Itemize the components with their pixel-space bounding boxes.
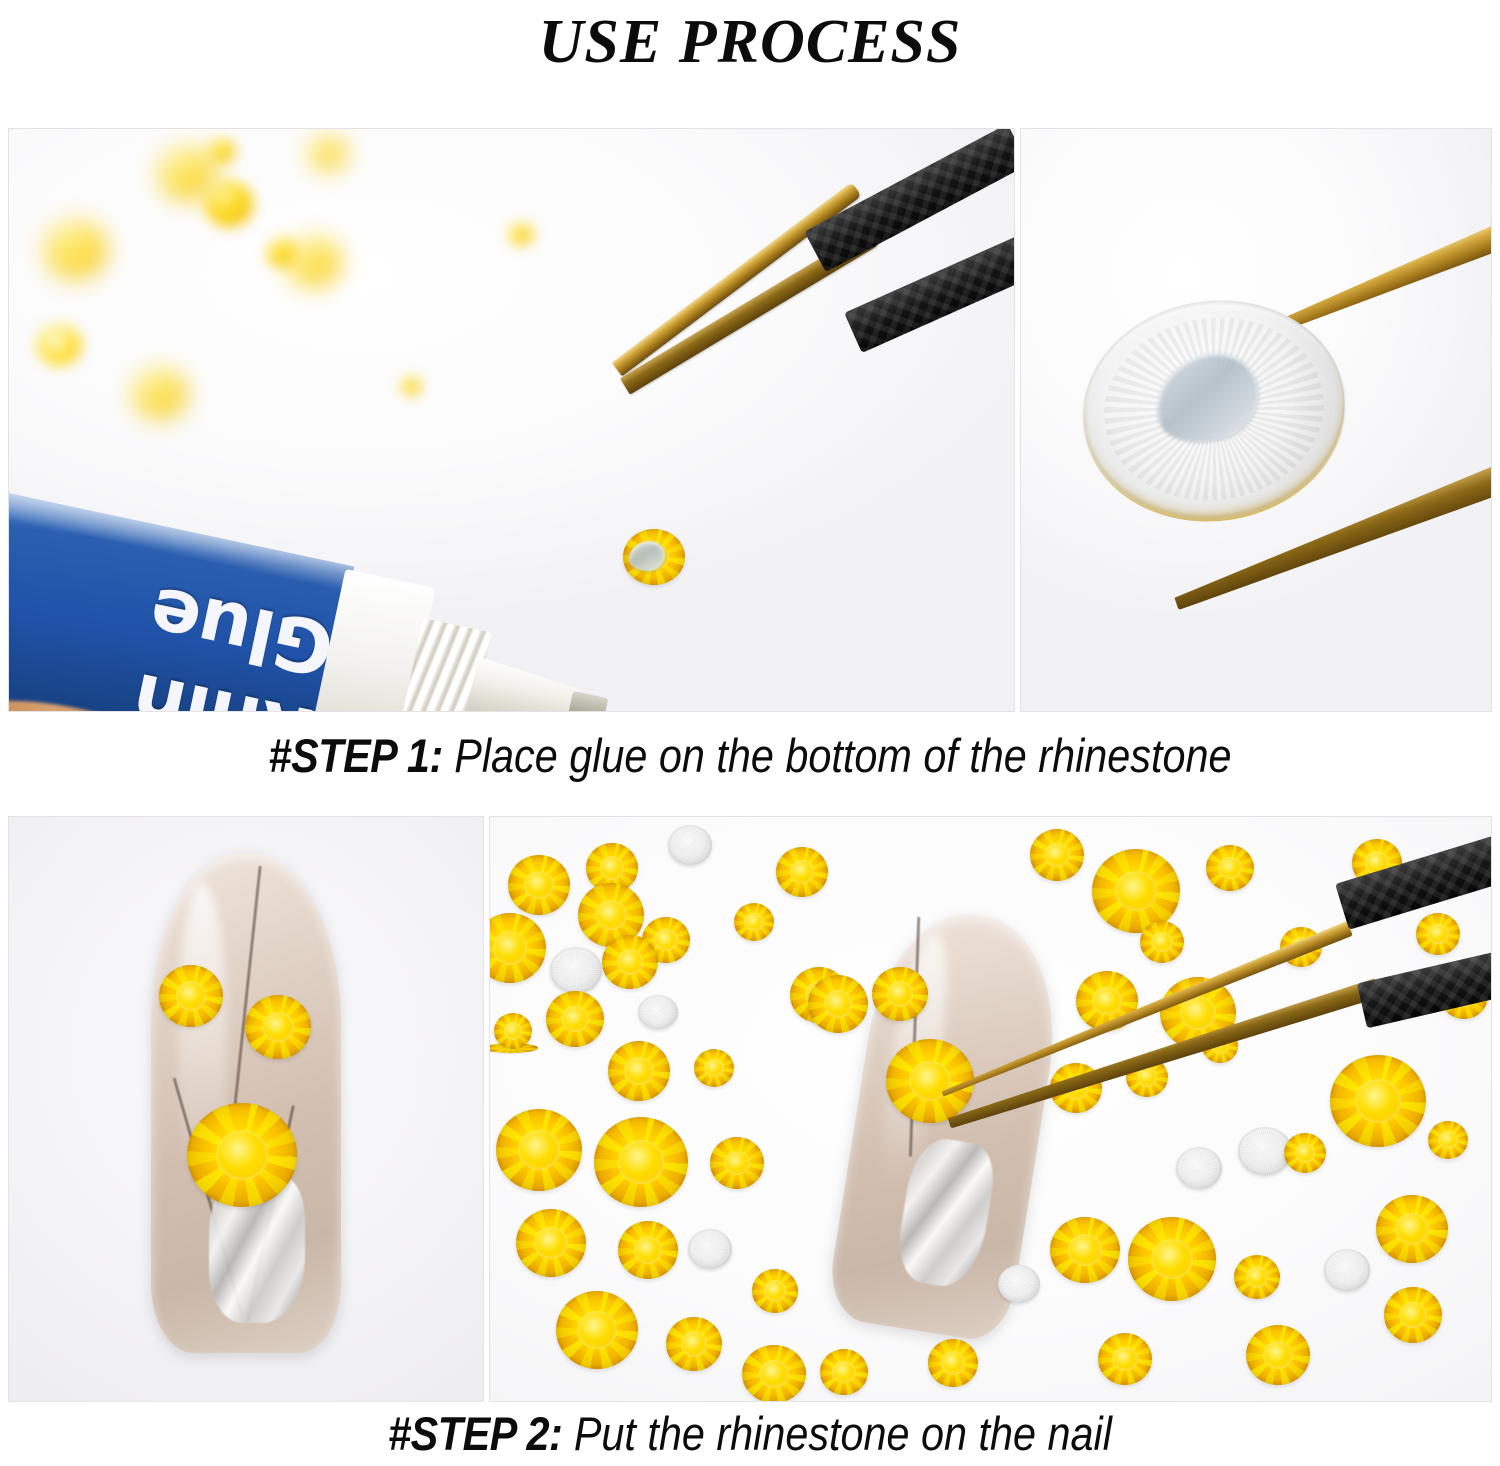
rhinestone-table — [524, 871, 554, 900]
scatter-rhinestone-back — [1176, 1147, 1222, 1189]
rhinestone-table — [216, 1130, 269, 1180]
rhinestone-table — [887, 981, 914, 1007]
bokeh-stone — [205, 181, 253, 227]
rhinestone-table — [618, 1140, 663, 1183]
rhinestone-table — [1092, 987, 1122, 1016]
scatter-rhinestone — [742, 1345, 806, 1402]
scatter-rhinestone — [666, 1317, 722, 1371]
rhinestone-table — [634, 1236, 663, 1264]
scatter-rhinestone — [602, 935, 658, 989]
scatter-rhinestone-back — [1324, 1249, 1370, 1291]
nail-rhinestone — [808, 975, 868, 1033]
rhinestone-table — [493, 931, 528, 965]
scatter-rhinestone — [1050, 1217, 1120, 1283]
scatter-rhinestone — [618, 1221, 678, 1279]
rhinestone-table — [832, 1361, 855, 1383]
panel-placing-stone — [489, 816, 1492, 1402]
scatter-rhinestone — [734, 903, 774, 941]
step1-label: #STEP 1: — [269, 729, 443, 782]
nail-rhinestone-large — [187, 1103, 297, 1207]
rhinestone-table — [724, 1151, 750, 1176]
rhinestone-table — [1151, 932, 1172, 952]
scatter-rhinestone — [1284, 1133, 1326, 1173]
step1-text: Place glue on the bottom of the rhinesto… — [443, 729, 1232, 782]
rhinestone-table — [176, 981, 207, 1011]
step2-caption: #STEP 2: Put the rhinestone on the nail — [90, 1406, 1410, 1462]
step2-image-row — [8, 816, 1492, 1402]
scatter-rhinestone — [1030, 829, 1084, 881]
rhinestone-table — [518, 1130, 559, 1169]
nail-rhinestone-small — [159, 965, 223, 1027]
scatter-rhinestone-back — [688, 1229, 732, 1269]
bokeh-stone — [309, 135, 347, 171]
rhinestone-table — [1112, 1347, 1138, 1372]
scatter-rhinestone-back — [668, 825, 712, 865]
rhinestone-table — [764, 1280, 786, 1301]
scatter-rhinestone — [496, 1109, 582, 1191]
scatter-rhinestone-back — [638, 995, 678, 1029]
scatter-rhinestone — [1206, 845, 1254, 891]
panel-glue-application: RhinGlue — [8, 128, 1015, 712]
bokeh-stone — [133, 369, 187, 419]
page-title: USE PROCESS — [0, 2, 1500, 82]
rhinestone-table — [1427, 924, 1448, 944]
rhinestone-table — [941, 1351, 965, 1374]
panel-stone-closeup — [1020, 128, 1492, 712]
scatter-rhinestone — [1376, 1195, 1448, 1263]
panel-decorated-nail — [8, 816, 484, 1402]
scatter-rhinestone — [546, 991, 604, 1047]
rhinestone-table — [1355, 1079, 1401, 1123]
scatter-rhinestone — [1416, 913, 1460, 955]
bokeh-stone — [45, 221, 107, 279]
step2-label: #STEP 2: — [388, 1407, 562, 1460]
rhinestone-table — [1295, 1143, 1315, 1162]
rhinestone-table — [1246, 1266, 1268, 1287]
rhinestone-table — [824, 990, 853, 1018]
bokeh-stone — [37, 325, 81, 365]
step1-caption: #STEP 1: Place glue on the bottom of the… — [90, 728, 1410, 784]
step2-text: Put the rhinestone on the nail — [562, 1407, 1112, 1460]
scatter-rhinestone — [494, 1013, 532, 1049]
scatter-rhinestone-back — [550, 947, 602, 993]
rhinestone-table — [1044, 843, 1070, 868]
rhinestone-table — [595, 900, 627, 931]
scatter-rhinestone — [1140, 921, 1184, 963]
scatter-rhinestone — [752, 1269, 798, 1313]
scatter-rhinestone-back — [998, 1265, 1040, 1303]
rhinestone-table — [617, 949, 644, 975]
bokeh-stone — [401, 377, 421, 395]
bokeh-stone — [509, 223, 533, 245]
scatter-rhinestone — [508, 855, 570, 915]
rhinestone-table — [654, 929, 677, 951]
rhinestone-table — [624, 1057, 654, 1086]
glue-drop-on-stone — [629, 541, 665, 571]
nail-rhinestone — [872, 967, 928, 1021]
rhinestone-table — [262, 1012, 294, 1043]
scatter-rhinestone — [1128, 1217, 1216, 1301]
rhinestone-table — [1115, 871, 1157, 911]
scatter-rhinestone — [820, 1349, 868, 1395]
bokeh-stone — [287, 237, 341, 287]
scatter-rhinestone — [1384, 1287, 1442, 1343]
scatter-rhinestone — [516, 1209, 586, 1277]
rhinestone-table — [577, 1311, 616, 1348]
scatter-rhinestone — [1092, 849, 1180, 933]
scatter-rhinestone — [776, 847, 828, 897]
rhinestone-table — [504, 1022, 522, 1039]
rhinestone-table — [1151, 1239, 1193, 1279]
rhinestone-table — [1068, 1234, 1102, 1266]
scatter-rhinestone — [594, 1117, 688, 1207]
scatter-rhinestone — [1234, 1255, 1280, 1299]
scatter-rhinestone — [694, 1049, 734, 1087]
scatter-rhinestone — [1246, 1325, 1310, 1385]
scatter-rhinestone — [608, 1041, 670, 1101]
rhinestone-table — [561, 1006, 589, 1033]
rhinestone-table — [759, 1360, 790, 1388]
rhinestone-table — [681, 1331, 708, 1357]
rhinestone-table — [1399, 1302, 1427, 1329]
rhinestone-table — [534, 1227, 568, 1260]
bokeh-stone — [209, 139, 235, 163]
scatter-rhinestone — [710, 1137, 764, 1189]
step1-image-row: RhinGlue — [8, 128, 1492, 712]
rhinestone-table — [744, 913, 763, 931]
scatter-rhinestone — [1098, 1333, 1152, 1385]
scatter-rhinestone — [556, 1291, 638, 1369]
scatter-rhinestone — [1330, 1055, 1426, 1147]
nail-rhinestone-medium — [245, 995, 311, 1059]
scatter-rhinestone — [1428, 1121, 1468, 1159]
rhinestone-table — [1438, 1131, 1457, 1149]
rhinestone-table — [704, 1059, 723, 1077]
scatter-rhinestone — [928, 1339, 978, 1387]
rhinestone-table — [1218, 857, 1241, 879]
rhinestone-being-placed — [886, 1039, 974, 1123]
